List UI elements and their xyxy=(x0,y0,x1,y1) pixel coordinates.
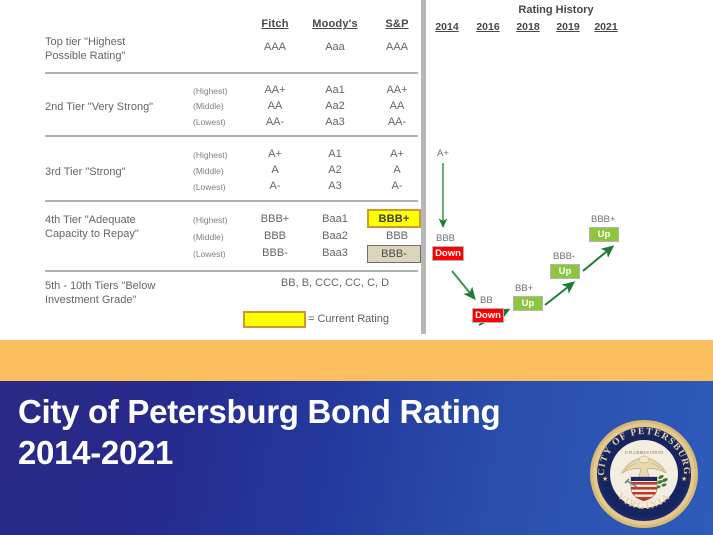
cell-sp-aa: AA xyxy=(376,100,418,112)
cell-sp-bbb: BBB xyxy=(376,230,418,242)
tier-label-4-line2: Capacity to Repay" xyxy=(45,227,215,241)
cell-moodys-a3: A3 xyxy=(308,180,362,192)
history-action-badge-down-bb: Down xyxy=(472,308,504,323)
cell-moodys-baa2: Baa2 xyxy=(308,230,362,242)
seal-motto-text: E PLURIBUS UNUM xyxy=(625,450,663,455)
cell-fitch-aa-plus: AA+ xyxy=(255,84,295,96)
page-title-line2: 2014-2021 xyxy=(18,432,598,473)
tier-label-2: 2nd Tier "Very Strong" xyxy=(45,100,215,114)
rating-scale-table: Fitch Moody's S&P Top tier "Highest Poss… xyxy=(0,0,421,340)
year-label-2021: 2021 xyxy=(591,21,621,33)
year-label-2018: 2018 xyxy=(513,21,543,33)
cell-fitch-a-minus: A- xyxy=(255,180,295,192)
history-rating-label-a-plus: A+ xyxy=(437,148,449,159)
cell-sp-a: A xyxy=(376,164,418,176)
history-action-badge-up-bb-plus: Up xyxy=(513,296,543,311)
rating-history-arrows xyxy=(426,0,713,340)
cell-sp-aaa: AAA xyxy=(376,41,418,53)
tier-label-1-line2: Possible Rating" xyxy=(45,49,215,63)
legend-swatch-current-rating xyxy=(243,311,306,328)
cell-fitch-aa: AA xyxy=(255,100,295,112)
tier-label-1: Top tier "Highest Possible Rating" xyxy=(45,35,215,63)
year-label-2014: 2014 xyxy=(432,21,462,33)
cell-fitch-a: A xyxy=(255,164,295,176)
history-action-badge-up-bbb-plus: Up xyxy=(589,227,619,242)
tier-label-4: 4th Tier "Adequate Capacity to Repay" xyxy=(45,213,215,241)
sub-highest-4: (Highest) xyxy=(193,215,249,225)
cell-moodys-baa1: Baa1 xyxy=(308,213,362,225)
history-action-badge-down-bbb: Down xyxy=(432,246,464,261)
cell-moodys-a1: A1 xyxy=(308,148,362,160)
svg-text:★: ★ xyxy=(681,475,687,483)
cell-sp-a-plus: A+ xyxy=(376,148,418,160)
slide-content-area: Fitch Moody's S&P Top tier "Highest Poss… xyxy=(0,0,713,340)
sub-highest-3: (Highest) xyxy=(193,150,249,160)
year-label-2016: 2016 xyxy=(473,21,503,33)
year-label-2019: 2019 xyxy=(553,21,583,33)
cell-fitch-bbb-plus: BBB+ xyxy=(255,213,295,225)
orange-accent-band xyxy=(0,340,713,381)
tier-label-5-line1: 5th - 10th Tiers "Below xyxy=(45,279,215,293)
page-title-line1: City of Petersburg Bond Rating xyxy=(18,391,598,432)
prior-rating-highlight-bbb-minus: BBB- xyxy=(367,245,421,263)
tier-label-5: 5th - 10th Tiers "Below Investment Grade… xyxy=(45,279,215,307)
cell-moodys-aa2: Aa2 xyxy=(308,100,362,112)
column-header-sp: S&P xyxy=(376,18,418,30)
sub-middle-4: (Middle) xyxy=(193,232,249,242)
sub-middle-2: (Middle) xyxy=(193,101,249,111)
cell-moodys-baa3: Baa3 xyxy=(308,247,362,259)
cell-fitch-a-plus: A+ xyxy=(255,148,295,160)
tier-label-3: 3rd Tier "Strong" xyxy=(45,165,215,179)
history-rating-label-bbb: BBB xyxy=(436,233,455,244)
cell-moodys-aa1: Aa1 xyxy=(308,84,362,96)
cell-sp-aa-minus: AA- xyxy=(376,116,418,128)
below-investment-grade-values: BB, B, CCC, CC, C, D xyxy=(250,277,420,289)
cell-fitch-aaa: AAA xyxy=(255,41,295,53)
row-divider-4 xyxy=(45,270,418,272)
cell-sp-a-minus: A- xyxy=(376,180,418,192)
tier-label-1-line1: Top tier "Highest xyxy=(45,35,215,49)
sub-lowest-4: (Lowest) xyxy=(193,249,249,259)
row-divider-1 xyxy=(45,72,418,74)
cell-moodys-a2: A2 xyxy=(308,164,362,176)
history-rating-label-bbb-plus: BBB+ xyxy=(591,214,616,225)
history-action-badge-up-bbb-minus: Up xyxy=(550,264,580,279)
sub-lowest-2: (Lowest) xyxy=(193,117,249,127)
legend-label-current-rating: = Current Rating xyxy=(308,313,389,325)
cell-moodys-aaa: Aaa xyxy=(308,41,362,53)
tier-label-5-line2: Investment Grade" xyxy=(45,293,215,307)
history-rating-label-bbb-minus: BBB- xyxy=(553,251,575,262)
cell-fitch-bbb-minus: BBB- xyxy=(255,247,295,259)
slide-root: Fitch Moody's S&P Top tier "Highest Poss… xyxy=(0,0,713,535)
tier-label-4-line1: 4th Tier "Adequate xyxy=(45,213,215,227)
row-divider-2 xyxy=(45,135,418,137)
sub-middle-3: (Middle) xyxy=(193,166,249,176)
rating-history-chart: Rating History 2014 2016 2018 2019 2021 xyxy=(426,0,713,340)
city-seal-logo: ★ ★ CITY OF PETERSBURG VIRGINIA E PLURIB… xyxy=(589,419,699,529)
cell-sp-aa-plus: AA+ xyxy=(376,84,418,96)
column-header-moodys: Moody's xyxy=(308,18,362,30)
svg-text:★: ★ xyxy=(602,475,608,483)
rating-history-title: Rating History xyxy=(486,4,626,16)
cell-fitch-bbb: BBB xyxy=(255,230,295,242)
row-divider-3 xyxy=(45,200,418,202)
cell-fitch-aa-minus: AA- xyxy=(255,116,295,128)
sub-highest-2: (Highest) xyxy=(193,86,249,96)
cell-moodys-aa3: Aa3 xyxy=(308,116,362,128)
page-title: City of Petersburg Bond Rating 2014-2021 xyxy=(18,391,598,473)
history-rating-label-bb: BB xyxy=(480,295,493,306)
sub-lowest-3: (Lowest) xyxy=(193,182,249,192)
column-header-fitch: Fitch xyxy=(255,18,295,30)
history-rating-label-bb-plus: BB+ xyxy=(515,283,533,294)
current-rating-highlight-bbb-plus: BBB+ xyxy=(367,209,421,228)
